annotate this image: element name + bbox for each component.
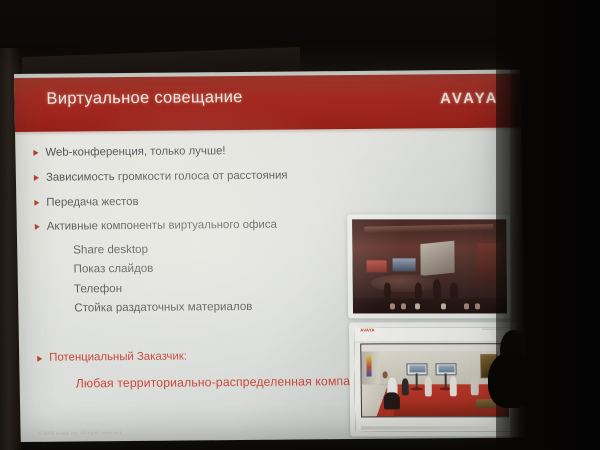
- wall-poster-red: [366, 261, 386, 272]
- avaya-logo-small: AVAYA: [360, 328, 374, 333]
- monitor-stand: [416, 374, 418, 389]
- bullet-item: Web-конференция, только лучше!: [31, 143, 341, 160]
- triangle-bullet-icon: [37, 356, 42, 362]
- photo-of-projected-slide: Виртуальное совещание AVAYA Web-конферен…: [0, 0, 600, 450]
- avaya-logo: AVAYA: [440, 90, 499, 108]
- foreground-light: [441, 303, 447, 310]
- avatar-dark: [401, 378, 408, 395]
- avatar-figure: [433, 280, 441, 299]
- triangle-bullet-icon: [35, 224, 40, 230]
- slide-canvas: Виртуальное совещание AVAYA Web-конферен…: [14, 70, 527, 442]
- photo-a-frame: [352, 219, 507, 313]
- app-statusbar: [362, 426, 488, 429]
- sub-item-list: Share desktop Показ слайдов Телефон Стой…: [73, 240, 344, 317]
- bullet-label: Передача жестов: [46, 193, 342, 210]
- avatar-figure: [414, 282, 422, 298]
- office-3d-view: [361, 343, 509, 418]
- avatar-white: [424, 377, 431, 397]
- triangle-bullet-icon: [34, 175, 39, 181]
- app-toolbar: AVAYA ▭▭▭▭▭▭: [354, 327, 512, 342]
- audience-head-silhouette: [488, 352, 534, 408]
- banner-stand: [366, 356, 372, 376]
- projected-slide: Виртуальное совещание AVAYA Web-конферен…: [14, 70, 527, 442]
- bullet-item: Передача жестов: [32, 193, 342, 210]
- slide-title: Виртуальное совещание: [46, 88, 243, 109]
- bullet-label: Активные компоненты виртуального офиса: [47, 217, 343, 234]
- avatar-figure: [384, 282, 392, 298]
- sub-item: Показ слайдов: [73, 259, 343, 278]
- triangle-bullet-icon: [34, 199, 39, 205]
- bullet-list: Web-конференция, только лучше! Зависимос…: [31, 143, 344, 320]
- projection-screen: [420, 240, 454, 276]
- monitor-base: [411, 388, 423, 391]
- avatar-figure: [450, 282, 458, 298]
- triangle-bullet-icon: [33, 150, 38, 156]
- foreground-avatar: [384, 392, 400, 409]
- sub-item: Share desktop: [73, 240, 343, 259]
- foreground-light: [401, 303, 407, 310]
- bullet-label: Web-конференция, только лучше!: [45, 143, 341, 160]
- monitor-stand: [445, 374, 447, 389]
- bullet-label: Зависимость громкости голоса от расстоян…: [46, 168, 342, 185]
- virtual-meeting-room-photo: [347, 214, 512, 318]
- foreground-light: [415, 303, 421, 310]
- foreground-light: [475, 303, 481, 310]
- avatar-white: [449, 376, 456, 396]
- bullet-item: Зависимость громкости голоса от расстоян…: [32, 168, 342, 185]
- bullet-item: Активные компоненты виртуального офиса: [33, 217, 343, 234]
- avatar-white: [471, 374, 479, 395]
- sub-item: Стойка раздаточных материалов: [74, 298, 344, 317]
- wall-poster-blue: [393, 259, 416, 271]
- slide-body: Web-конференция, только лучше! Зависимос…: [15, 132, 527, 442]
- slide-header-band: Виртуальное совещание AVAYA: [14, 74, 521, 132]
- foreground-shadow: [353, 298, 507, 313]
- sub-item: Телефон: [74, 279, 344, 298]
- slide-footer-note: © 2008 Avaya Inc. All rights reserved.: [39, 430, 123, 436]
